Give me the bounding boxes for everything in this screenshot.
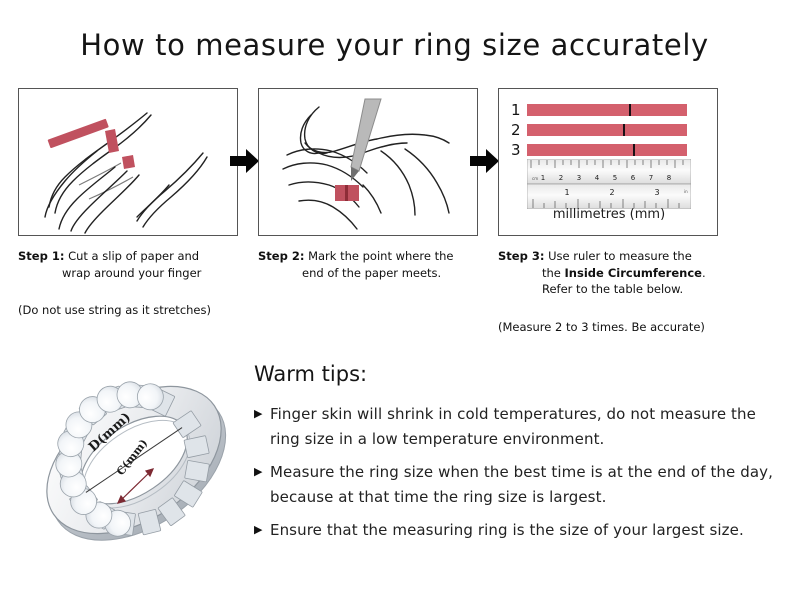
step-3-note: (Measure 2 to 3 times. Be accurate): [498, 320, 720, 334]
svg-text:3: 3: [577, 174, 581, 182]
svg-text:cm: cm: [532, 176, 538, 181]
step-3-inside-circumference: Inside Circumference: [565, 266, 702, 280]
list-item: ▶ Finger skin will shrink in cold temper…: [254, 402, 774, 452]
svg-text:4: 4: [595, 174, 600, 182]
step-3-line3: Refer to the table below.: [498, 281, 720, 298]
step-3-line2-prefix: the: [542, 266, 565, 280]
triangle-bullet-icon: ▶: [254, 518, 270, 542]
strip-mark-1: [629, 104, 631, 116]
warm-tip-1: Finger skin will shrink in cold temperat…: [270, 402, 774, 452]
svg-text:6: 6: [631, 174, 636, 182]
strip-number-1: 1: [511, 101, 527, 119]
step-2-label: Step 2:: [258, 249, 304, 263]
step-3-label: Step 3:: [498, 249, 544, 263]
step-2-panel: [258, 88, 478, 236]
svg-text:in: in: [684, 189, 688, 194]
step-1-line2: wrap around your finger: [18, 265, 240, 282]
arrow-step2-to-step3: [470, 146, 500, 176]
list-item: ▶ Ensure that the measuring ring is the …: [254, 518, 774, 543]
triangle-bullet-icon: ▶: [254, 460, 270, 484]
svg-text:5: 5: [613, 174, 617, 182]
svg-text:1: 1: [541, 174, 545, 182]
svg-text:7: 7: [649, 174, 653, 182]
arrow-step1-to-step2: [230, 146, 260, 176]
measured-strip-1: 1: [511, 101, 687, 119]
strip-bar-2: [527, 124, 687, 136]
step-3-line1: Use ruler to measure the: [548, 249, 692, 263]
measured-strip-3: 3: [511, 141, 687, 159]
svg-text:8: 8: [667, 174, 671, 182]
warm-tip-3: Ensure that the measuring ring is the si…: [270, 518, 744, 543]
list-item: ▶ Measure the ring size when the best ti…: [254, 460, 774, 510]
step-1-panel: [18, 88, 238, 236]
step-3-line2-suffix: .: [702, 266, 706, 280]
svg-text:1: 1: [564, 188, 569, 197]
svg-text:3: 3: [654, 188, 659, 197]
page-title: How to measure your ring size accurately: [0, 28, 789, 62]
millimetres-label: millimetres (mm): [499, 207, 718, 222]
step-1-caption: Step 1: Cut a slip of paper and wrap aro…: [18, 248, 240, 281]
strip-number-3: 3: [511, 141, 527, 159]
strip-bar-3: [527, 144, 687, 156]
step-3-caption: Step 3: Use ruler to measure the the Ins…: [498, 248, 720, 298]
step-3-column: 1 2 3: [498, 88, 720, 334]
measured-strip-2: 2: [511, 121, 687, 139]
warm-tips-block: Warm tips: ▶ Finger skin will shrink in …: [254, 362, 774, 551]
step-3-panel: 1 2 3: [498, 88, 718, 236]
strip-bar-1: [527, 104, 687, 116]
step-2-line1: Mark the point where the: [308, 249, 453, 263]
step-1-line1: Cut a slip of paper and: [68, 249, 199, 263]
triangle-bullet-icon: ▶: [254, 402, 270, 426]
hand-with-paper-strip-illustration: [19, 89, 238, 236]
warm-tip-2: Measure the ring size when the best time…: [270, 460, 774, 510]
svg-text:2: 2: [609, 188, 614, 197]
svg-text:2: 2: [559, 174, 563, 182]
steps-row: Step 1: Cut a slip of paper and wrap aro…: [0, 88, 789, 338]
step-1-column: Step 1: Cut a slip of paper and wrap aro…: [18, 88, 240, 317]
ruler-icon: 123 456 78 cm 123 in: [527, 159, 691, 209]
warm-tips-heading: Warm tips:: [254, 362, 774, 386]
step-2-line2: end of the paper meets.: [258, 265, 480, 282]
step-3-line2: the Inside Circumference.: [498, 265, 720, 282]
hand-marking-strip-with-pen-illustration: [259, 89, 478, 236]
strip-mark-3: [633, 144, 635, 156]
step-1-label: Step 1:: [18, 249, 64, 263]
strip-mark-2: [623, 124, 625, 136]
step-1-note: (Do not use string as it stretches): [18, 303, 240, 317]
step-2-caption: Step 2: Mark the point where the end of …: [258, 248, 480, 281]
step-2-column: Step 2: Mark the point where the end of …: [258, 88, 480, 281]
strip-number-2: 2: [511, 121, 527, 139]
